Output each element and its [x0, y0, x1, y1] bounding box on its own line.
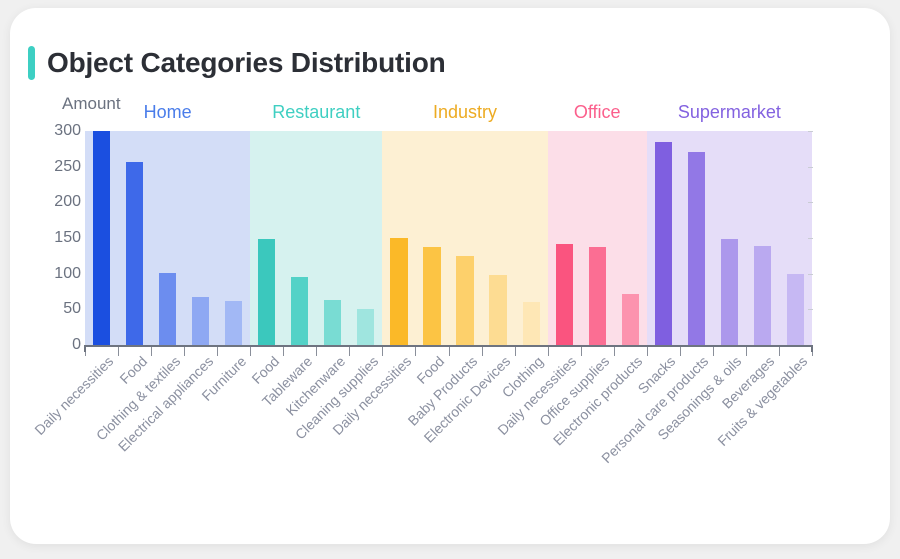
x-axis-tickmark [581, 347, 582, 356]
page-root: Object Categories Distribution Amount 05… [0, 0, 900, 559]
group-title-supermarket: Supermarket [647, 102, 812, 123]
bar[interactable] [754, 246, 771, 345]
x-axis-tickmark [515, 347, 516, 356]
group-title-industry: Industry [382, 102, 547, 123]
x-axis-tickmark [283, 347, 284, 356]
x-axis-tickmark [349, 347, 350, 356]
x-axis-tickmark [217, 347, 218, 356]
bar[interactable] [291, 277, 308, 345]
y-axis-tick: 0 [35, 336, 81, 354]
bar[interactable] [225, 301, 242, 345]
bar[interactable] [192, 297, 209, 345]
group-title-restaurant: Restaurant [250, 102, 382, 123]
bar[interactable] [159, 273, 176, 345]
bar[interactable] [622, 294, 639, 345]
x-axis-tickmark [713, 347, 714, 356]
x-axis-tickmark [548, 347, 549, 356]
group-title-home: Home [85, 102, 250, 123]
y-gridline-tick [808, 274, 813, 275]
x-axis-tickmark [316, 347, 317, 356]
x-axis-tickmark [647, 347, 648, 356]
bar[interactable] [324, 300, 341, 345]
x-axis-tickmark [118, 347, 119, 356]
bar[interactable] [721, 239, 738, 345]
x-axis-tickmark [746, 347, 747, 356]
y-gridline-tick [808, 309, 813, 310]
x-axis-tickmark [449, 347, 450, 356]
y-axis-tick: 300 [35, 122, 81, 140]
bar[interactable] [456, 256, 473, 345]
y-axis-ticks: 050100150200250300 [25, 131, 81, 345]
bar[interactable] [556, 244, 573, 345]
bar[interactable] [258, 239, 275, 345]
y-axis-tick: 50 [35, 300, 81, 318]
y-axis-tick: 150 [35, 229, 81, 247]
y-gridline-tick [808, 238, 813, 239]
x-axis-tickmark [482, 347, 483, 356]
y-axis-tick: 100 [35, 265, 81, 283]
bar[interactable] [523, 302, 540, 346]
x-axis-cap-left [84, 345, 86, 352]
chart-card: Object Categories Distribution Amount 05… [10, 8, 890, 544]
bar[interactable] [357, 309, 374, 345]
x-axis-tickmark [680, 347, 681, 356]
bar[interactable] [126, 162, 143, 345]
x-axis-tickmark [415, 347, 416, 356]
x-axis-cap-right [811, 345, 813, 352]
bar-chart: Amount 050100150200250300 Daily necessit… [10, 8, 890, 544]
bar[interactable] [390, 238, 407, 345]
plot-area [85, 131, 812, 345]
y-axis-tick: 250 [35, 158, 81, 176]
bar[interactable] [655, 142, 672, 345]
x-axis-tickmark [184, 347, 185, 356]
y-axis-tick: 200 [35, 193, 81, 211]
x-axis-tickmark [614, 347, 615, 356]
x-axis-tickmark [250, 347, 251, 356]
group-title-office: Office [548, 102, 647, 123]
bar[interactable] [423, 247, 440, 345]
bar[interactable] [787, 274, 804, 345]
y-gridline-tick [808, 167, 813, 168]
bar[interactable] [688, 152, 705, 345]
y-gridline-tick [808, 131, 813, 132]
bar[interactable] [489, 275, 506, 345]
x-axis-tickmark [779, 347, 780, 356]
y-gridline-tick [808, 202, 813, 203]
bar[interactable] [589, 247, 606, 345]
x-axis-tickmark [151, 347, 152, 356]
x-axis-tickmark [382, 347, 383, 356]
bar[interactable] [93, 131, 110, 345]
